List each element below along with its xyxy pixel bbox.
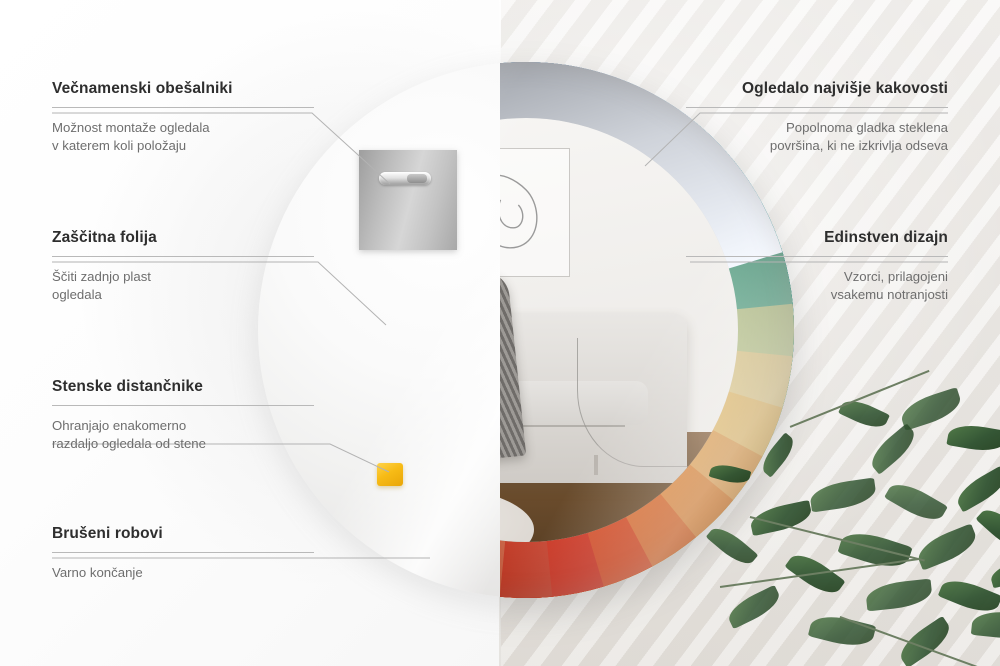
callout-rule [686, 107, 948, 108]
callout-rule [52, 256, 314, 257]
callout-top-quality-title: Ogledalo najvišje kakovosti [686, 80, 948, 98]
callout-protective-film-title: Zaščitna folija [52, 229, 314, 247]
hanger-plate [359, 150, 457, 250]
callout-rule [52, 552, 314, 553]
leaf [971, 609, 1000, 641]
callout-protective-film-desc: Ščiti zadnjo plast ogledala [52, 268, 314, 304]
callout-rule [52, 405, 314, 406]
callout-wall-spacers: Stenske distančnike Ohranjajo enakomerno… [52, 378, 314, 453]
foliage-decoration [690, 386, 1000, 666]
infographic-canvas: Večnamenski obešalniki Možnost montaže o… [0, 0, 1000, 666]
callout-unique-design-desc: Vzorci, prilagojeni vsakemu notranjosti [686, 268, 948, 304]
callout-hangers-desc: Možnost montaže ogledala v katerem koli … [52, 119, 314, 155]
leaf [838, 395, 890, 433]
callout-wall-spacers-desc: Ohranjajo enakomerno razdaljo ogledala o… [52, 417, 314, 453]
leaf [952, 465, 1000, 512]
hanger-slot [379, 172, 431, 185]
callout-polished-edges-title: Brušeni robovi [52, 525, 314, 543]
leaf [913, 523, 980, 570]
leaf [988, 555, 1000, 588]
callout-hangers-title: Večnamenski obešalniki [52, 80, 314, 98]
callout-wall-spacers-title: Stenske distančnike [52, 378, 314, 396]
leaf [865, 423, 921, 475]
callout-polished-edges-desc: Varno končanje [52, 564, 314, 582]
leaf [757, 432, 799, 477]
callout-top-quality-desc: Popolnoma gladka steklena površina, ki n… [686, 119, 948, 155]
leaf [976, 503, 1000, 555]
leaf [809, 478, 878, 513]
callout-unique-design-title: Edinstven dizajn [686, 229, 948, 247]
callout-top-quality: Ogledalo najvišje kakovosti Popolnoma gl… [686, 80, 948, 155]
callout-hangers: Večnamenski obešalniki Možnost montaže o… [52, 80, 314, 155]
stem [750, 516, 925, 561]
callout-rule [686, 256, 948, 257]
leaf [706, 522, 759, 571]
leaf [724, 585, 784, 629]
callout-rule [52, 107, 314, 108]
wall-spacer-yellow [377, 463, 403, 486]
leaf [865, 579, 933, 612]
callout-polished-edges: Brušeni robovi Varno končanje [52, 525, 314, 582]
callout-unique-design: Edinstven dizajn Vzorci, prilagojeni vsa… [686, 229, 948, 304]
leaf [946, 421, 1000, 455]
leaf [884, 477, 948, 528]
leaf [709, 461, 752, 487]
callout-protective-film: Zaščitna folija Ščiti zadnjo plast ogled… [52, 229, 314, 304]
